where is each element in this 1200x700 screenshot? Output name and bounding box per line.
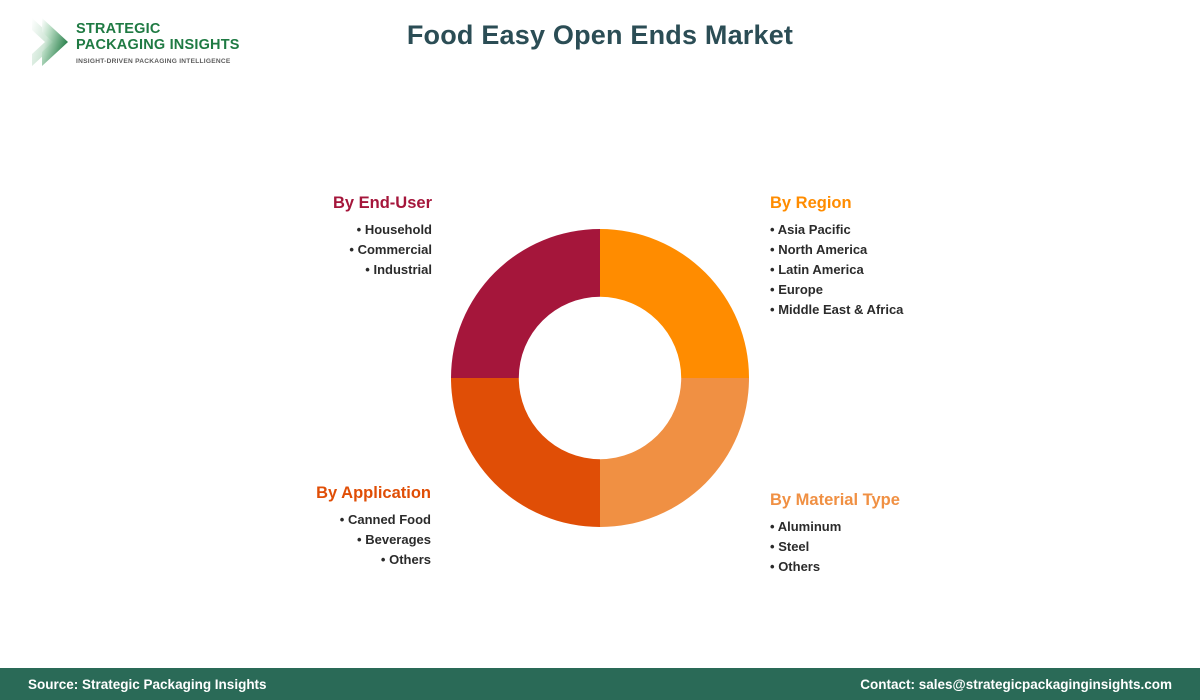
page-title: Food Easy Open Ends Market xyxy=(0,20,1200,51)
segment-item-label: Europe xyxy=(778,282,823,297)
list-item: • Aluminum xyxy=(770,517,1050,537)
list-item: • North America xyxy=(770,240,1050,260)
list-item: • Industrial xyxy=(200,260,432,280)
segment-panel-material-type: By Material Type • Aluminum • Steel • Ot… xyxy=(770,490,1050,577)
list-item: • Beverages xyxy=(200,530,431,550)
donut-slice-by-material-type xyxy=(600,378,749,527)
segment-item-label: Household xyxy=(365,222,432,237)
segment-item-label: Industrial xyxy=(373,262,432,277)
list-item: • Steel xyxy=(770,537,1050,557)
market-segmentation-donut-chart xyxy=(451,229,749,527)
segment-item-label: North America xyxy=(778,242,867,257)
list-item: • Others xyxy=(770,557,1050,577)
segment-title-region: By Region xyxy=(770,193,1050,213)
segment-item-label: Beverages xyxy=(365,532,431,547)
segment-list-material-type: • Aluminum • Steel • Others xyxy=(770,517,1050,577)
segment-title-application: By Application xyxy=(200,483,431,503)
segment-item-label: Commercial xyxy=(358,242,432,257)
list-item: • Asia Pacific xyxy=(770,220,1050,240)
list-item: • Middle East & Africa xyxy=(770,300,1050,320)
segment-item-label: Latin America xyxy=(778,262,864,277)
segment-item-label: Middle East & Africa xyxy=(778,302,903,317)
segment-list-application: • Canned Food • Beverages • Others xyxy=(200,510,431,570)
footer-bar: Source: Strategic Packaging Insights Con… xyxy=(0,668,1200,700)
list-item: • Others xyxy=(200,550,431,570)
segment-item-label: Aluminum xyxy=(778,519,842,534)
segment-panel-end-user: By End-User • Household • Commercial • I… xyxy=(200,193,432,280)
brand-tagline: INSIGHT-DRIVEN PACKAGING INTELLIGENCE xyxy=(76,58,240,65)
segment-list-region: • Asia Pacific • North America • Latin A… xyxy=(770,220,1050,320)
segment-item-label: Canned Food xyxy=(348,512,431,527)
donut-slice-by-application xyxy=(451,378,600,527)
segment-item-label: Others xyxy=(778,559,820,574)
segment-panel-application: By Application • Canned Food • Beverages… xyxy=(200,483,431,570)
segment-list-end-user: • Household • Commercial • Industrial xyxy=(200,220,432,280)
donut-slice-by-region xyxy=(600,229,749,378)
segment-title-material-type: By Material Type xyxy=(770,490,1050,510)
segment-item-label: Steel xyxy=(778,539,809,554)
list-item: • Europe xyxy=(770,280,1050,300)
list-item: • Household xyxy=(200,220,432,240)
list-item: • Canned Food xyxy=(200,510,431,530)
segment-item-label: Others xyxy=(389,552,431,567)
segment-item-label: Asia Pacific xyxy=(778,222,851,237)
footer-source: Source: Strategic Packaging Insights xyxy=(28,677,267,692)
list-item: • Commercial xyxy=(200,240,432,260)
segment-title-end-user: By End-User xyxy=(200,193,432,213)
list-item: • Latin America xyxy=(770,260,1050,280)
segment-panel-region: By Region • Asia Pacific • North America… xyxy=(770,193,1050,320)
donut-slice-by-end-user xyxy=(451,229,600,378)
footer-contact: Contact: sales@strategicpackaginginsight… xyxy=(860,677,1172,692)
